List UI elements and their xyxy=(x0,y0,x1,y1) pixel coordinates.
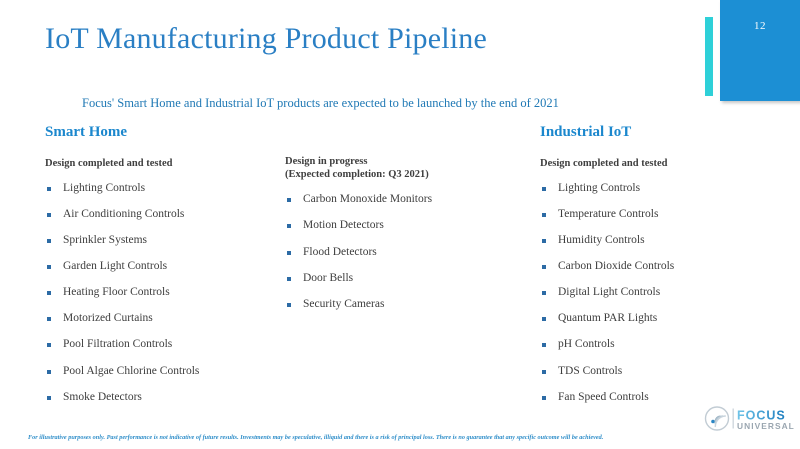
bullet-square-icon xyxy=(47,239,51,243)
bullet-square-icon xyxy=(47,370,51,374)
list-item-label: Motion Detectors xyxy=(303,219,384,231)
list-item-label: Smoke Detectors xyxy=(63,391,142,403)
list-item-label: Carbon Dioxide Controls xyxy=(558,260,674,272)
list-item-label: Lighting Controls xyxy=(558,182,640,194)
list-item: Garden Light Controls xyxy=(45,260,275,273)
list-item: Motion Detectors xyxy=(285,219,530,232)
column-subheading-smart-home: Design completed and tested xyxy=(45,157,275,170)
page-number: 12 xyxy=(720,20,800,32)
list-item-label: Pool Algae Chlorine Controls xyxy=(63,365,199,377)
list-item: Air Conditioning Controls xyxy=(45,208,275,221)
bullet-square-icon xyxy=(47,213,51,217)
list-item-label: Heating Floor Controls xyxy=(63,286,170,298)
subheading-line-2: (Expected completion: Q3 2021) xyxy=(285,168,530,181)
list-item: Door Bells xyxy=(285,272,530,285)
list-item-label: Air Conditioning Controls xyxy=(63,208,184,220)
list-item-label: Carbon Monoxide Monitors xyxy=(303,193,432,205)
columns-container: Smart Home Design completed and tested L… xyxy=(0,124,800,424)
logo-svg: FOCUS UNIVERSAL xyxy=(703,405,795,432)
bullet-square-icon xyxy=(287,198,291,202)
bullet-square-icon xyxy=(47,317,51,321)
bullet-square-icon xyxy=(287,224,291,228)
bullet-square-icon xyxy=(287,303,291,307)
list-item: Flood Detectors xyxy=(285,246,530,259)
list-item-label: Door Bells xyxy=(303,272,353,284)
bullet-list-in-progress: Carbon Monoxide Monitors Motion Detector… xyxy=(285,193,530,310)
logo-divider xyxy=(733,409,734,429)
column-smart-home: Smart Home Design completed and tested L… xyxy=(45,124,275,417)
list-item-label: Pool Filtration Controls xyxy=(63,338,172,350)
list-item: Quantum PAR Lights xyxy=(540,312,780,325)
bullet-square-icon xyxy=(47,291,51,295)
list-item: Heating Floor Controls xyxy=(45,286,275,299)
list-item: Carbon Monoxide Monitors xyxy=(285,193,530,206)
bullet-square-icon xyxy=(287,277,291,281)
bullet-square-icon xyxy=(542,239,546,243)
list-item-label: Lighting Controls xyxy=(63,182,145,194)
list-item-label: Digital Light Controls xyxy=(558,286,660,298)
list-item: Smoke Detectors xyxy=(45,391,275,404)
column-heading-industrial-iot: Industrial IoT xyxy=(540,124,780,141)
bullet-list-smart-home: Lighting Controls Air Conditioning Contr… xyxy=(45,182,275,404)
list-item: Pool Filtration Controls xyxy=(45,338,275,351)
bullet-square-icon xyxy=(542,317,546,321)
bullet-square-icon xyxy=(542,343,546,347)
list-item-label: Motorized Curtains xyxy=(63,312,153,324)
list-item-label: Sprinkler Systems xyxy=(63,234,147,246)
list-item-label: Security Cameras xyxy=(303,298,384,310)
signal-wave-icon xyxy=(706,407,729,430)
list-item: Temperature Controls xyxy=(540,208,780,221)
footer-disclaimer: For illustrative purposes only. Past per… xyxy=(28,434,778,441)
list-item: Lighting Controls xyxy=(45,182,275,195)
bullet-square-icon xyxy=(542,370,546,374)
bullet-square-icon xyxy=(47,187,51,191)
bullet-square-icon xyxy=(47,265,51,269)
page-title: IoT Manufacturing Product Pipeline xyxy=(45,22,487,56)
list-item-label: Fan Speed Controls xyxy=(558,391,649,403)
bullet-square-icon xyxy=(542,396,546,400)
list-item: pH Controls xyxy=(540,338,780,351)
list-item: Carbon Dioxide Controls xyxy=(540,260,780,273)
slide-canvas: 12 IoT Manufacturing Product Pipeline Fo… xyxy=(0,0,800,449)
bullet-list-industrial-iot: Lighting Controls Temperature Controls H… xyxy=(540,182,780,404)
list-item: Digital Light Controls xyxy=(540,286,780,299)
list-item-label: Flood Detectors xyxy=(303,246,377,258)
bullet-square-icon xyxy=(542,291,546,295)
list-item-label: Humidity Controls xyxy=(558,234,645,246)
list-item: Sprinkler Systems xyxy=(45,234,275,247)
bullet-square-icon xyxy=(287,251,291,255)
bullet-square-icon xyxy=(47,343,51,347)
column-heading-smart-home: Smart Home xyxy=(45,124,275,141)
list-item: Fan Speed Controls xyxy=(540,391,780,404)
list-item: Motorized Curtains xyxy=(45,312,275,325)
list-item-label: Garden Light Controls xyxy=(63,260,167,272)
slide-subtitle: Focus' Smart Home and Industrial IoT pro… xyxy=(82,96,559,111)
column-subheading-in-progress: Design in progress (Expected completion:… xyxy=(285,155,530,181)
bullet-square-icon xyxy=(542,213,546,217)
list-item: Humidity Controls xyxy=(540,234,780,247)
list-item: Security Cameras xyxy=(285,298,530,311)
focus-universal-logo: FOCUS UNIVERSAL xyxy=(703,405,795,432)
list-item: Lighting Controls xyxy=(540,182,780,195)
list-item-label: Temperature Controls xyxy=(558,208,658,220)
bullet-square-icon xyxy=(542,265,546,269)
logo-text-universal: UNIVERSAL xyxy=(737,421,795,431)
column-industrial-iot: Industrial IoT Design completed and test… xyxy=(540,124,780,417)
column-subheading-industrial-iot: Design completed and tested xyxy=(540,157,780,170)
bullet-square-icon xyxy=(47,396,51,400)
subheading-line-1: Design in progress xyxy=(285,155,530,168)
accent-bar xyxy=(705,17,713,96)
list-item: Pool Algae Chlorine Controls xyxy=(45,365,275,378)
list-item: TDS Controls xyxy=(540,365,780,378)
list-item-label: pH Controls xyxy=(558,338,615,350)
column-design-in-progress: Design in progress (Expected completion:… xyxy=(285,124,530,324)
list-item-label: Quantum PAR Lights xyxy=(558,312,657,324)
list-item-label: TDS Controls xyxy=(558,365,622,377)
page-number-box: 12 xyxy=(720,0,800,101)
bullet-square-icon xyxy=(542,187,546,191)
